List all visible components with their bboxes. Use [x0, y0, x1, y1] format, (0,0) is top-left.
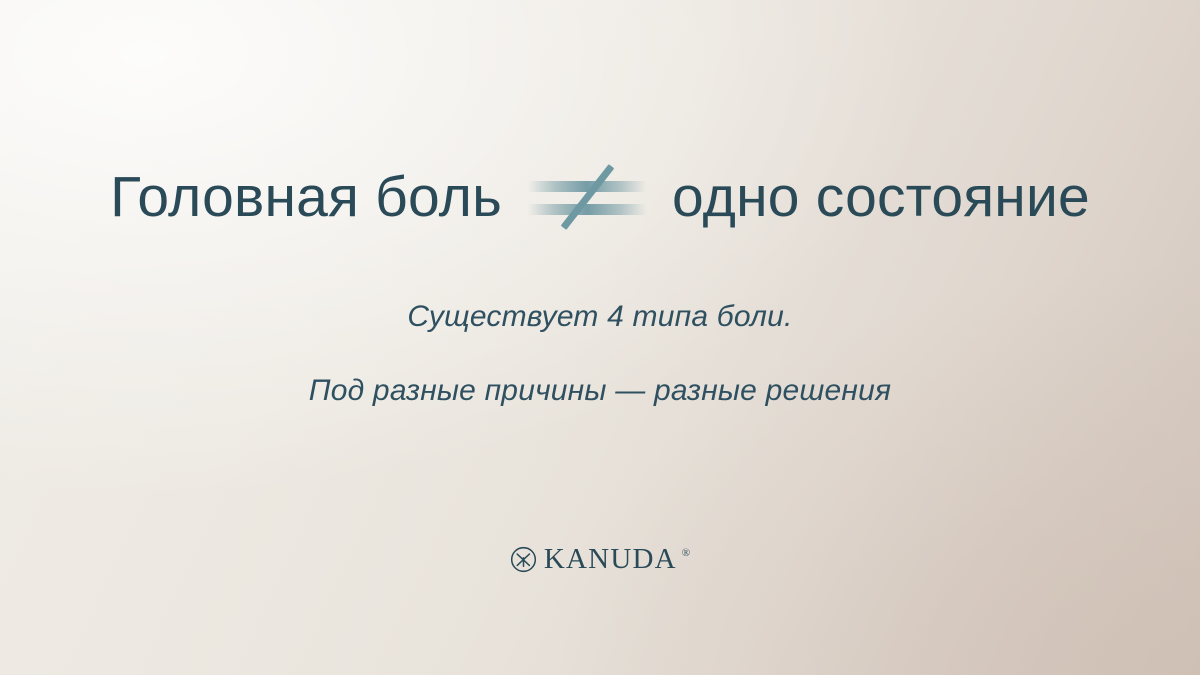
- registered-trademark-icon: ®: [682, 547, 690, 559]
- not-equal-bar-bottom: [528, 204, 646, 215]
- slide-canvas: Головная боль одно состояние Существует …: [0, 0, 1200, 675]
- subheading-line-1: Существует 4 типа боли.: [0, 300, 1200, 334]
- subheading-line-2: Под разные причины — разные решения: [0, 374, 1200, 408]
- headline: Головная боль одно состояние: [0, 160, 1200, 234]
- circled-x-icon: [510, 546, 537, 573]
- not-equal-icon: [528, 160, 646, 234]
- headline-left-text: Головная боль: [110, 166, 502, 229]
- not-equal-slash: [560, 164, 614, 230]
- subheadings: Существует 4 типа боли. Под разные причи…: [0, 300, 1200, 408]
- brand-logo: KANUDA ®: [0, 545, 1200, 574]
- headline-right-text: одно состояние: [672, 166, 1090, 229]
- brand-name: KANUDA: [544, 545, 677, 574]
